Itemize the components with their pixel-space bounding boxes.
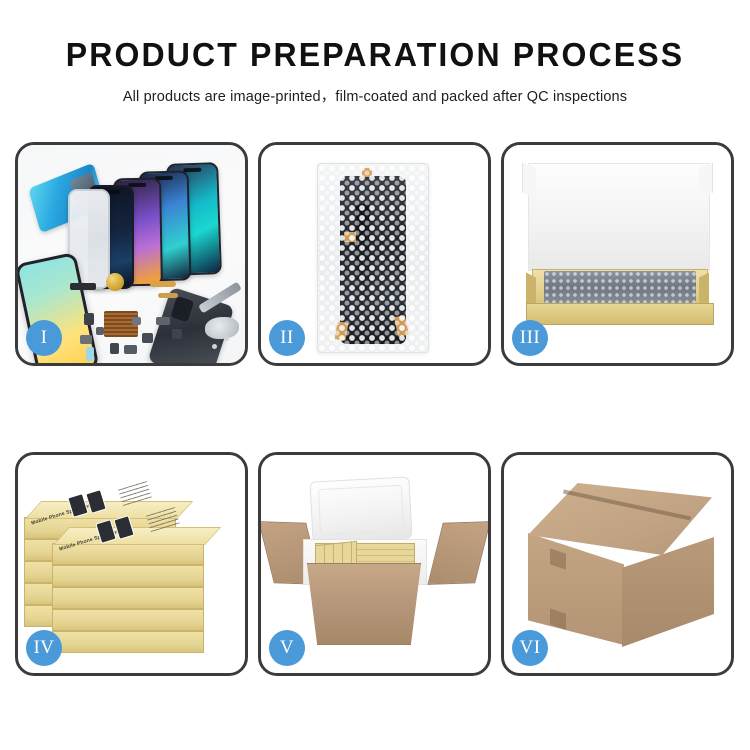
step-badge-6: VI	[512, 630, 548, 666]
gold-chip-icon	[106, 273, 124, 291]
screw-icon-2	[212, 344, 217, 349]
process-step-panel-2: II	[258, 142, 491, 366]
carton-body	[299, 563, 429, 645]
process-step-panel-5: V	[258, 452, 491, 676]
box-tray-front	[526, 303, 714, 325]
part-small-3	[80, 335, 92, 344]
product-preparation-infographic: PRODUCT PREPARATION PROCESS All products…	[0, 0, 750, 750]
step-badge-5: V	[269, 630, 305, 666]
step-badge-3: III	[512, 320, 548, 356]
part-small-2	[96, 327, 104, 335]
tool-handle-icon	[205, 317, 239, 339]
carton-flap-right	[427, 521, 488, 585]
step-badge-4: IV	[26, 630, 62, 666]
part-small-9	[86, 347, 94, 361]
stack-box-r5	[52, 631, 204, 653]
step-badge-1: I	[26, 320, 62, 356]
box-lid-flap-right	[699, 162, 713, 197]
part-small-5	[124, 345, 137, 354]
notch-icon	[183, 168, 201, 173]
carton-face-right	[622, 537, 714, 647]
header: PRODUCT PREPARATION PROCESS All products…	[0, 0, 750, 106]
process-step-panel-4: Mobile Phone Spare Parts Mobile Phone Sp…	[15, 452, 248, 676]
stack-box-r2	[52, 565, 204, 587]
speaker-bar	[70, 283, 96, 290]
flex-cable-2	[158, 293, 178, 298]
bubble-wrapped-contents	[544, 271, 696, 303]
part-small-1	[84, 313, 94, 325]
process-step-panel-6: VI	[501, 452, 734, 676]
part-small-4	[110, 343, 119, 354]
process-step-panel-3: III	[501, 142, 734, 366]
part-small-10	[132, 317, 141, 325]
foam-box-lid	[309, 476, 412, 543]
box-stack: Mobile Phone Spare Parts Mobile Phone Sp…	[24, 477, 242, 657]
step-badge-2: II	[269, 320, 305, 356]
stack-box-r4	[52, 609, 204, 631]
process-steps-grid: I II	[15, 142, 735, 676]
bubble-wrap-bag	[317, 163, 429, 353]
part-small-6	[142, 333, 153, 343]
flex-cable-1	[150, 281, 176, 287]
carton-face-left	[528, 533, 624, 645]
stack-box-r3	[52, 587, 204, 609]
box-lid-back	[528, 163, 710, 271]
page-subtitle: All products are image-printed，film-coat…	[0, 85, 750, 106]
screw-icon-1	[224, 336, 229, 341]
page-title: PRODUCT PREPARATION PROCESS	[11, 38, 739, 71]
process-step-panel-1: I	[15, 142, 248, 366]
part-small-7	[156, 317, 170, 325]
spare-parts-cluster	[80, 273, 200, 359]
bubble-texture	[318, 164, 428, 352]
part-small-8	[172, 329, 182, 339]
box-lid-flap-left	[522, 162, 536, 197]
